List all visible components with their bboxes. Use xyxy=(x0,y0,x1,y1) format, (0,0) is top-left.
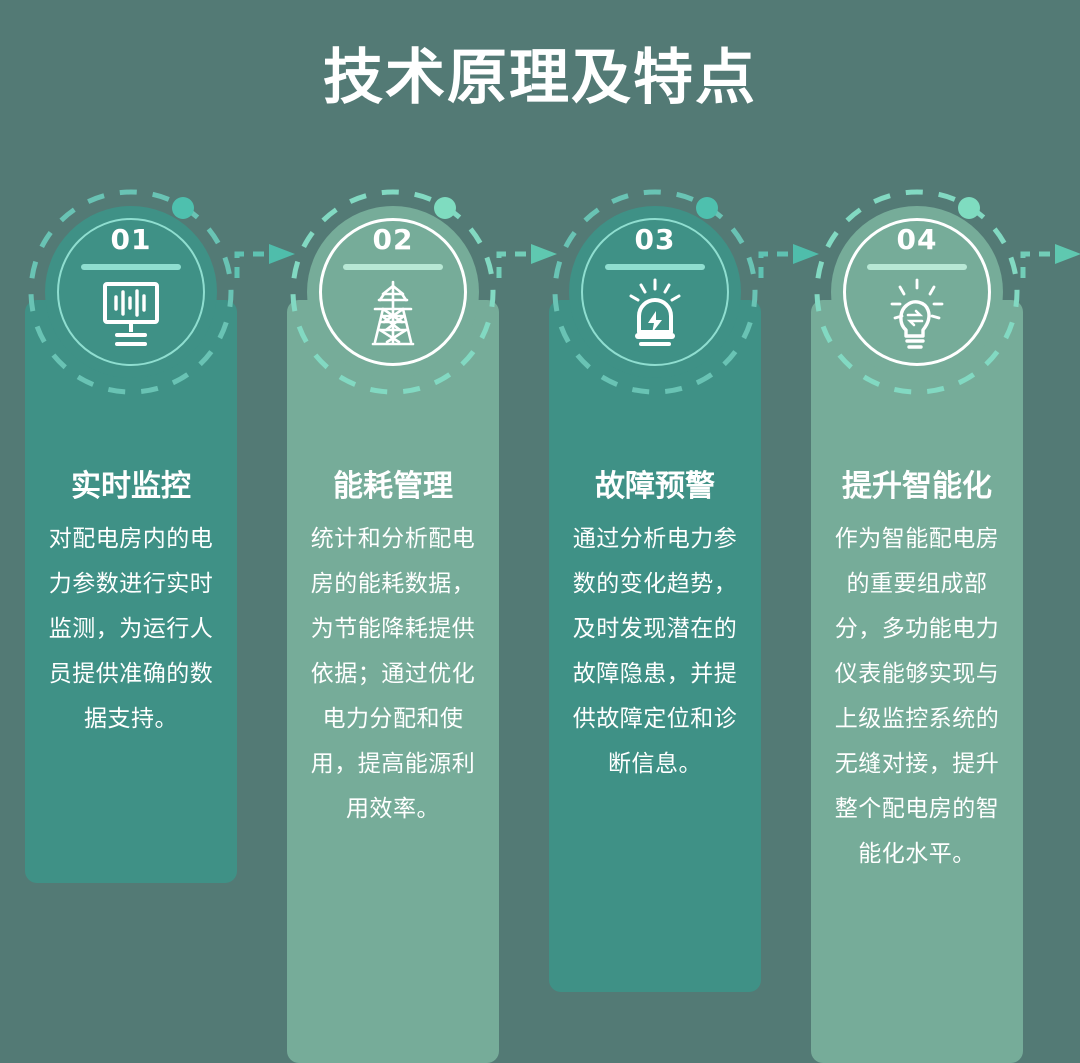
step-badge-02: 02 xyxy=(281,180,505,404)
step-item-04[interactable]: 提升智能化 作为智能配电房的重要组成部分，多功能电力仪表能够实现与上级监控系统的… xyxy=(811,180,1023,890)
step-body-01: 对配电房内的电力参数进行实时监测，为运行人员提供准确的数据支持。 xyxy=(41,516,221,741)
step-number-04: 04 xyxy=(805,224,1029,256)
lightbulb-idea-icon xyxy=(877,278,957,352)
step-badge-03: 03 xyxy=(543,180,767,404)
step-item-03[interactable]: 故障预警 通过分析电力参数的变化趋势，及时发现潜在的故障隐患，并提供故障定位和诊… xyxy=(549,180,761,890)
step-divider-01 xyxy=(81,264,181,270)
monitor-waveform-icon xyxy=(91,278,171,352)
step-number-03: 03 xyxy=(543,224,767,256)
page-title: 技术原理及特点 xyxy=(0,42,1080,114)
step-divider-03 xyxy=(605,264,705,270)
step-card-02: 能耗管理 统计和分析配电房的能耗数据，为节能降耗提供依据；通过优化电力分配和使用… xyxy=(287,300,499,1063)
alarm-siren-icon xyxy=(615,278,695,352)
step-badge-01: 01 xyxy=(19,180,243,404)
step-divider-02 xyxy=(343,264,443,270)
step-body-03: 通过分析电力参数的变化趋势，及时发现潜在的故障隐患，并提供故障定位和诊断信息。 xyxy=(565,516,745,786)
step-title-04: 提升智能化 xyxy=(827,468,1007,506)
step-item-01[interactable]: 实时监控 对配电房内的电力参数进行实时监测，为运行人员提供准确的数据支持。 01 xyxy=(25,180,237,890)
step-body-02: 统计和分析配电房的能耗数据，为节能降耗提供依据；通过优化电力分配和使用，提高能源… xyxy=(303,516,483,831)
step-arrow-04 xyxy=(1017,240,1080,280)
step-body-04: 作为智能配电房的重要组成部分，多功能电力仪表能够实现与上级监控系统的无缝对接，提… xyxy=(827,516,1007,876)
steps-container: 实时监控 对配电房内的电力参数进行实时监测，为运行人员提供准确的数据支持。 01 xyxy=(0,180,1080,900)
step-divider-04 xyxy=(867,264,967,270)
power-tower-icon xyxy=(353,278,433,352)
step-card-04: 提升智能化 作为智能配电房的重要组成部分，多功能电力仪表能够实现与上级监控系统的… xyxy=(811,300,1023,1063)
step-badge-04: 04 xyxy=(805,180,1029,404)
step-title-03: 故障预警 xyxy=(565,468,745,506)
step-title-02: 能耗管理 xyxy=(303,468,483,506)
step-number-02: 02 xyxy=(281,224,505,256)
step-number-01: 01 xyxy=(19,224,243,256)
step-title-01: 实时监控 xyxy=(41,468,221,506)
step-item-02[interactable]: 能耗管理 统计和分析配电房的能耗数据，为节能降耗提供依据；通过优化电力分配和使用… xyxy=(287,180,499,890)
